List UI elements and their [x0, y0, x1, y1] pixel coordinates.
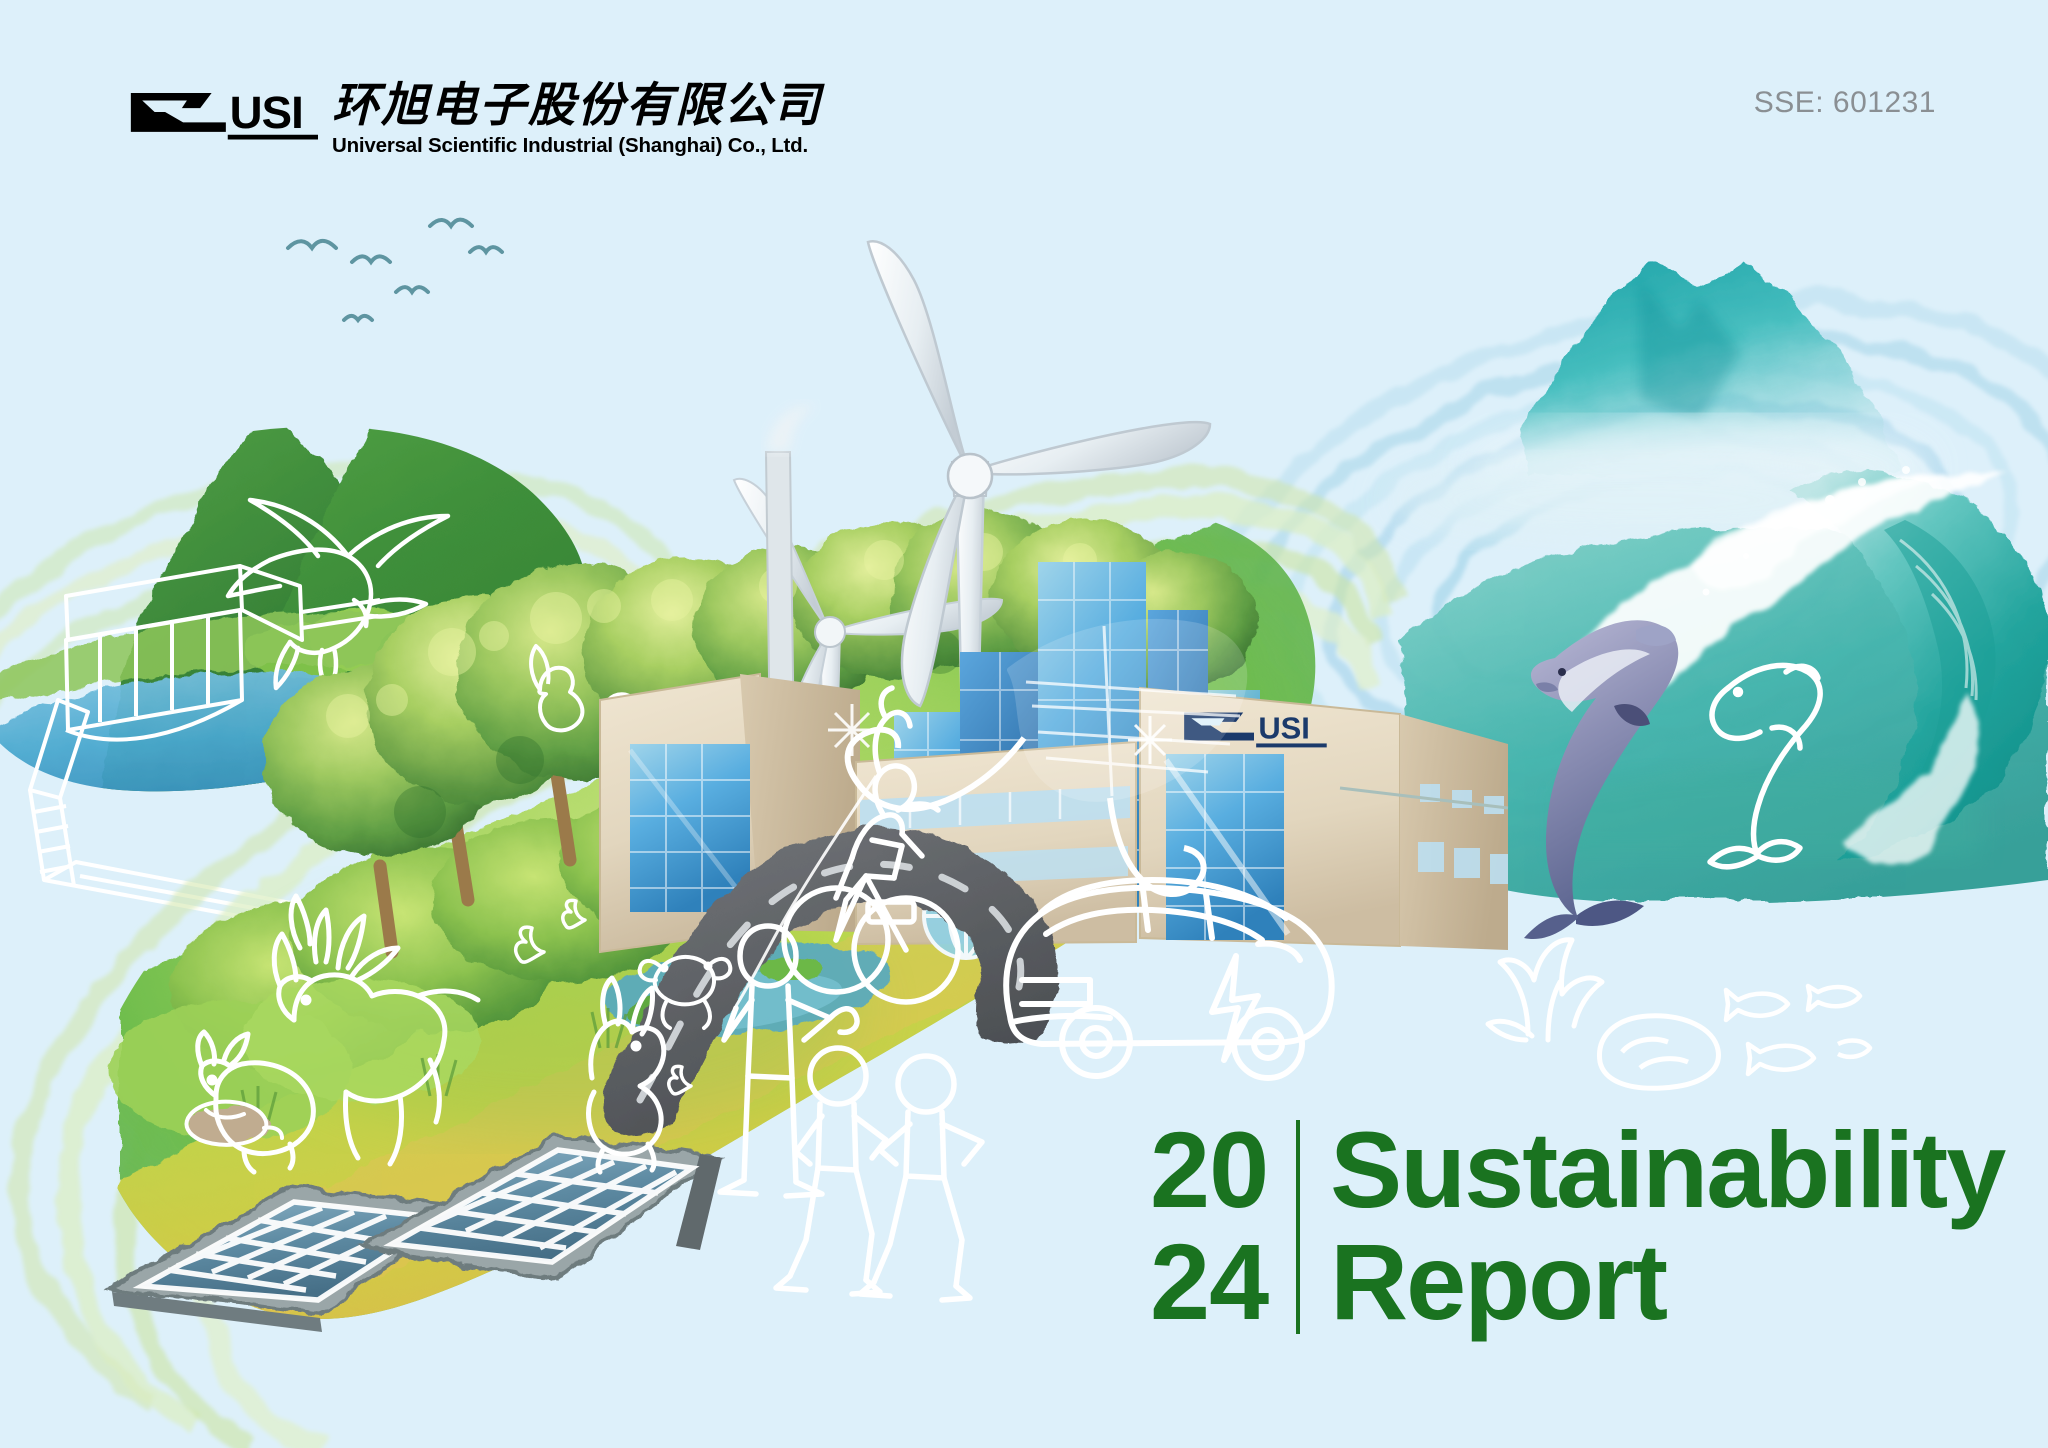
company-name-cn: 环旭电子股份有限公司	[332, 83, 822, 131]
page-header: USI 环旭电子股份有限公司 Universal Scientific Indu…	[0, 0, 2048, 190]
year-top: 20	[1150, 1114, 1268, 1226]
report-cover-page: USI	[0, 0, 2048, 1448]
title-line-1: Sustainability	[1330, 1114, 2004, 1226]
usi-wordmark: USI	[230, 87, 303, 138]
company-logo[interactable]: USI 环旭电子股份有限公司 Universal Scientific Indu…	[128, 82, 822, 158]
report-title-text: Sustainability Report	[1330, 1114, 2004, 1338]
report-title: 20 24 Sustainability Report	[1150, 1114, 2004, 1338]
title-divider	[1296, 1120, 1300, 1334]
stock-listing-label: SSE: 601231	[1754, 86, 1936, 120]
svg-text:USI: USI	[1258, 710, 1310, 745]
company-name-en: Universal Scientific Industrial (Shangha…	[332, 134, 822, 158]
report-year: 20 24	[1150, 1114, 1268, 1338]
year-bottom: 24	[1150, 1226, 1268, 1338]
title-line-2: Report	[1330, 1226, 2004, 1338]
usi-logo-mark: USI	[128, 82, 318, 140]
